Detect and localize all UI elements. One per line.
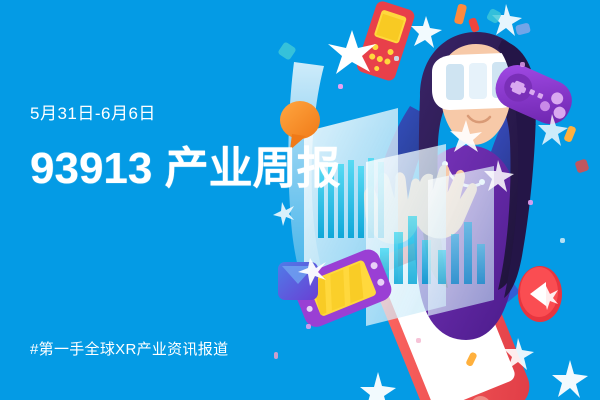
page-title: 93913 产业周报 [30, 146, 341, 192]
date-range: 5月31日-6月6日 [30, 104, 341, 124]
headline-block: 5月31日-6月6日 93913 产业周报 [30, 104, 341, 193]
tagline: #第一手全球XR产业资讯报道 [30, 338, 228, 359]
promo-banner: 5月31日-6月6日 93913 产业周报 #第一手全球XR产业资讯报道 [0, 0, 600, 400]
vr-illustration [270, 0, 600, 400]
